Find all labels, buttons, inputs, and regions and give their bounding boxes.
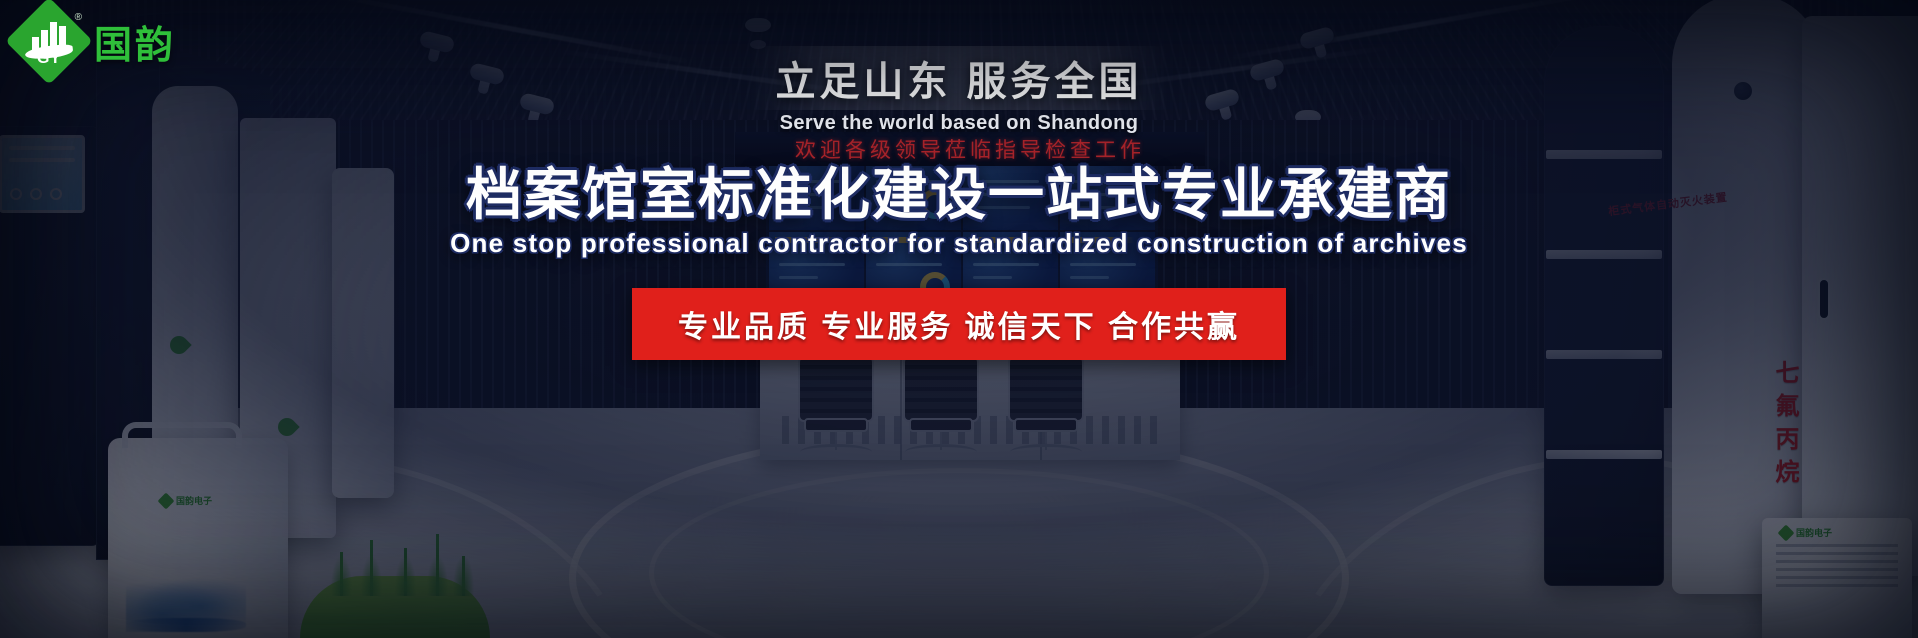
wall-shelf — [1546, 150, 1662, 159]
wall-shelf — [1546, 350, 1662, 359]
mobile-dehumidifier-cart: 国韵电子 — [108, 438, 288, 638]
equipment-cabinet-right-2 — [1802, 16, 1918, 576]
gas-fire-suppression-cabinet — [1672, 0, 1822, 594]
ribbon-text: 专业品质 专业服务 诚信天下 合作共赢 — [678, 302, 1240, 346]
office-chair — [790, 356, 882, 460]
headline-en: One stop professional contractor for sta… — [450, 228, 1468, 259]
cylinder-vertical-label: 七氟丙烷 — [1767, 360, 1802, 492]
brand-logo[interactable]: GY ® 国韵 — [18, 10, 176, 72]
gy-diamond-building-logo-icon: GY ® — [18, 10, 80, 72]
wall-shelf — [1546, 450, 1662, 459]
horse-decal — [126, 574, 246, 632]
equipment-cabinet-left-3 — [332, 168, 394, 498]
value-proposition-ribbon: 专业品质 专业服务 诚信天下 合作共赢 — [632, 288, 1286, 360]
slogan-cn: 立足山东 服务全国 — [775, 49, 1142, 107]
slogan-en: Serve the world based on Shandong — [780, 112, 1139, 135]
office-chair — [1000, 356, 1092, 460]
equipment-cabinet-left-1 — [0, 126, 100, 546]
office-chair — [895, 356, 987, 460]
grass-decal — [300, 518, 510, 638]
wall-shelf — [1546, 250, 1662, 259]
brand-name: 国韵 — [94, 14, 176, 69]
headline-cn: 档案馆室标准化建设一站式专业承建商 — [466, 150, 1452, 231]
equipment-brand-badge: 国韵电子 — [160, 494, 212, 507]
equipment-touch-screen — [0, 135, 85, 213]
registered-mark-icon: ® — [75, 12, 82, 23]
equipment-brand-label: 国韵电子 — [176, 494, 212, 507]
hero-banner: 国韵电子 柜式气体自动灭火装置 七氟丙烷 — [0, 0, 1918, 638]
equipment-brand-badge: 国韵电子 — [1780, 526, 1832, 539]
slogan-band: 立足山东 服务全国 — [749, 46, 1168, 110]
equipment-cabinet-right-dark — [1544, 26, 1664, 586]
smoke-detector-icon — [745, 18, 771, 32]
equipment-unit-bottom-right: 国韵电子 — [1762, 518, 1912, 638]
logo-initials: GY — [18, 50, 80, 68]
equipment-brand-label-2: 国韵电子 — [1796, 526, 1832, 539]
